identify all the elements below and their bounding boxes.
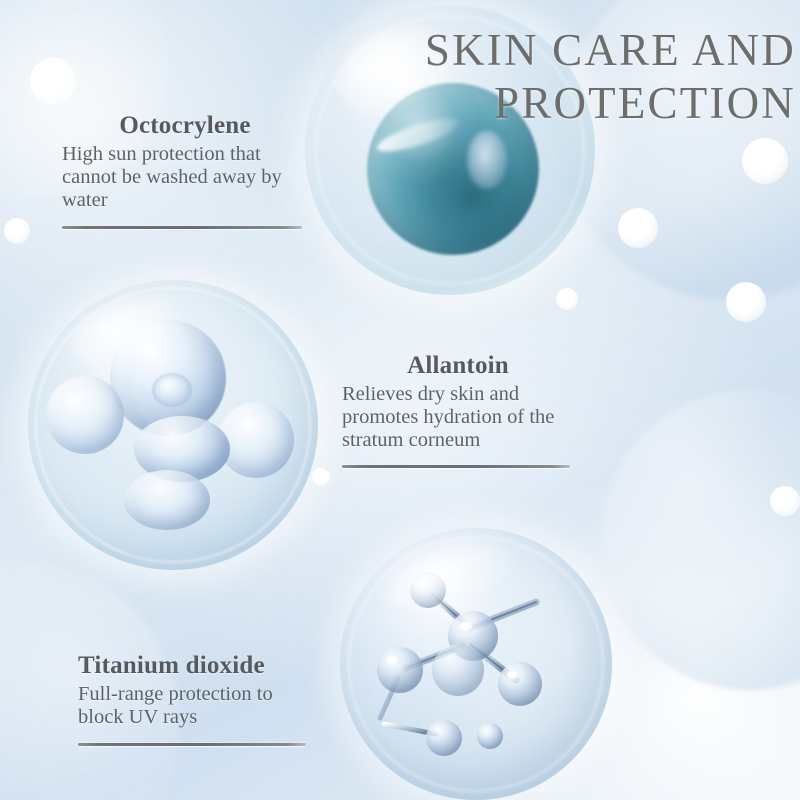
ingredient-description: Relieves dry skin and promotes hydration… bbox=[342, 383, 574, 452]
bokeh-dot bbox=[726, 282, 766, 322]
divider-rule bbox=[62, 226, 302, 229]
bokeh-dot bbox=[4, 218, 30, 244]
ingredient-block-titanium-dioxide: Titanium dioxide Full-range protection t… bbox=[78, 652, 308, 746]
bokeh-dot bbox=[618, 208, 658, 248]
ingredient-heading: Titanium dioxide bbox=[78, 652, 308, 680]
bokeh-dot bbox=[30, 58, 76, 104]
poster-title: SKIN CARE AND PROTECTION bbox=[425, 24, 796, 130]
ingredient-heading: Allantoin bbox=[342, 352, 574, 380]
bubble-rim bbox=[35, 287, 311, 563]
divider-rule bbox=[78, 743, 306, 746]
bokeh-dot bbox=[312, 468, 330, 486]
divider-rule bbox=[342, 465, 570, 468]
ingredient-block-allantoin: Allantoin Relieves dry skin and promotes… bbox=[342, 352, 574, 468]
molecule-bubble bbox=[340, 528, 612, 800]
bubble-rim bbox=[348, 536, 604, 792]
title-line-1: SKIN CARE AND bbox=[425, 24, 796, 77]
ingredient-description: Full-range protection to block UV rays bbox=[78, 683, 308, 729]
title-line-2: PROTECTION bbox=[425, 77, 796, 130]
bokeh-dot bbox=[556, 288, 578, 310]
bokeh-dot bbox=[742, 138, 788, 184]
poster-canvas: SKIN CARE AND PROTECTION Octocrylene Hig… bbox=[0, 0, 800, 800]
ingredient-block-octocrylene: Octocrylene High sun protection that can… bbox=[62, 112, 308, 229]
ingredient-heading: Octocrylene bbox=[62, 112, 308, 140]
bokeh-dot bbox=[770, 486, 800, 516]
ingredient-description: High sun protection that cannot be washe… bbox=[62, 143, 308, 212]
water-droplet-cluster-bubble bbox=[28, 280, 318, 570]
